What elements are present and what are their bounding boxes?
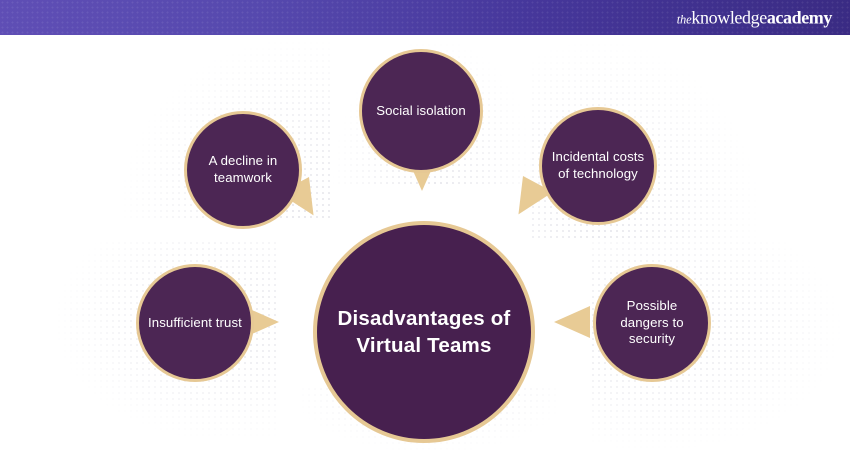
center-hub-title: Disadvantages of Virtual Teams xyxy=(317,305,531,359)
node-social-isolation[interactable]: Social isolation xyxy=(359,49,483,173)
node-decline-in-teamwork[interactable]: A decline in teamwork xyxy=(184,111,302,229)
node-label-social-isolation: Social isolation xyxy=(368,103,474,120)
brand-logo[interactable]: theknowledgeacademy xyxy=(677,8,832,27)
node-label-decline-in-teamwork: A decline in teamwork xyxy=(187,153,299,187)
node-incidental-costs-of-technology[interactable]: Incidental costs of technology xyxy=(539,107,657,225)
logo-knowledge: knowledge xyxy=(691,7,766,27)
logo-academy: academy xyxy=(767,7,832,27)
header-bar: theknowledgeacademy xyxy=(0,0,850,35)
node-label-incidental-costs-of-technology: Incidental costs of technology xyxy=(542,149,654,183)
node-possible-dangers-to-security[interactable]: Possible dangers to security xyxy=(593,264,711,382)
infographic-canvas: theknowledgeacademy A decline in teamwor… xyxy=(0,0,850,450)
logo-the: the xyxy=(677,12,692,26)
node-label-possible-dangers-to-security: Possible dangers to security xyxy=(596,298,708,349)
center-hub-node[interactable]: Disadvantages of Virtual Teams xyxy=(313,221,535,443)
node-label-insufficient-trust: Insufficient trust xyxy=(140,315,250,332)
node-insufficient-trust[interactable]: Insufficient trust xyxy=(136,264,254,382)
pointer-possible-dangers xyxy=(554,306,590,338)
